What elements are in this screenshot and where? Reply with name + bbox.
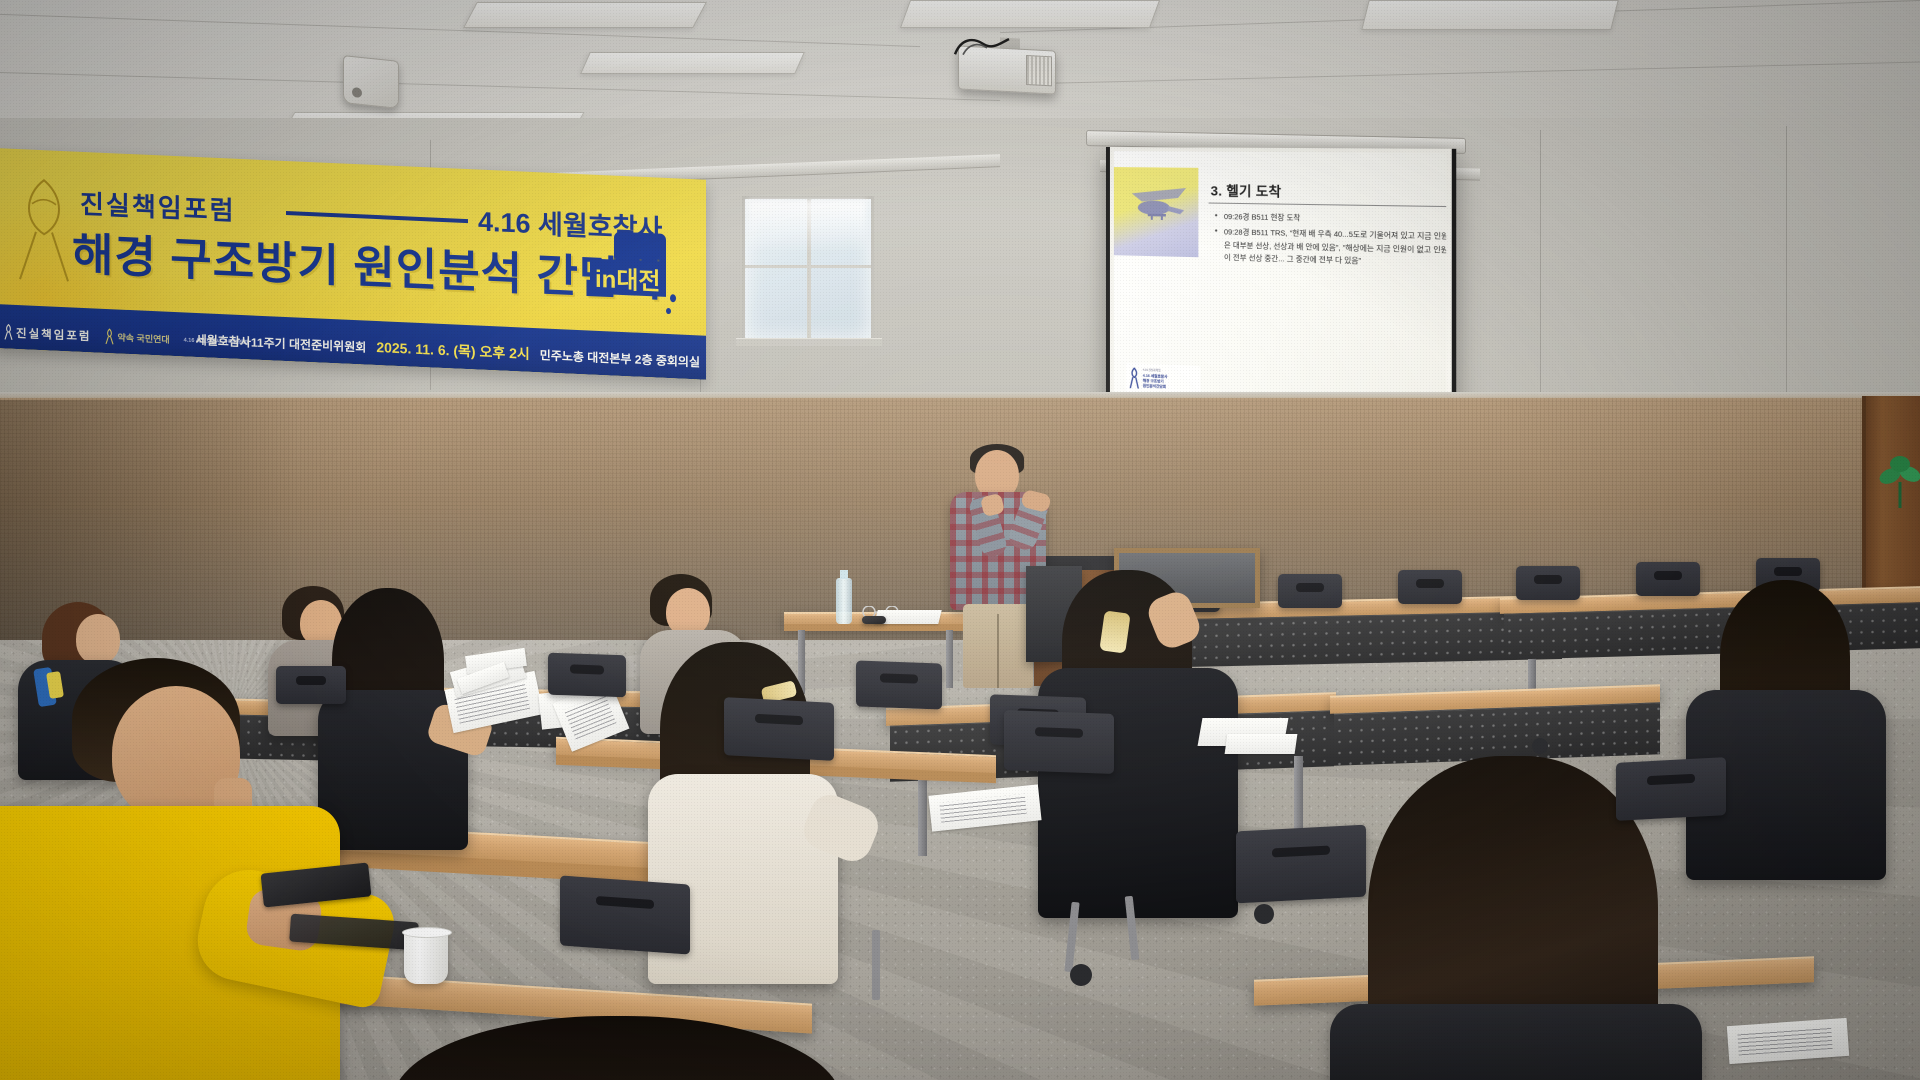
chair[interactable] <box>1398 570 1462 604</box>
water-bottle <box>836 578 852 624</box>
handout-paper <box>1225 734 1298 754</box>
chair[interactable] <box>724 697 834 761</box>
caster-wheel <box>1532 738 1548 754</box>
chair[interactable] <box>1004 710 1114 774</box>
banner-dot <box>666 308 671 314</box>
presenter-table-edge <box>784 624 964 631</box>
banner-date: 2025. 11. 6. (목) 오후 2시 <box>376 337 529 364</box>
chair[interactable] <box>1636 562 1700 596</box>
chair[interactable] <box>856 660 942 709</box>
ribbon-icon <box>1129 367 1140 390</box>
watermark-line3: 원인분석간담회 <box>1143 384 1168 391</box>
ribbon-icon <box>105 328 114 345</box>
slide-title: 3. 헬기 도착 <box>1211 180 1282 200</box>
banner-committee: 세월호참사11주기 대전준비위원회 <box>196 331 367 356</box>
ribbon-icon <box>4 323 13 340</box>
chair[interactable] <box>548 653 626 698</box>
window-glare <box>748 200 866 252</box>
projection-screen: 3. 헬기 도착 09:26경 B511 현장 도착 09:28경 B511 T… <box>1106 147 1456 427</box>
person-head <box>666 588 710 636</box>
paper-lines <box>564 693 617 739</box>
wall-shadow <box>0 400 300 650</box>
chair[interactable] <box>560 875 690 954</box>
table-leg <box>1294 756 1303 836</box>
window-mullion <box>745 265 871 268</box>
table-leg <box>918 770 927 856</box>
event-banner: 진실책임포럼 4.16 세월호참사 해경 구조방기 원인분석 간담회 in대전 … <box>0 148 706 380</box>
photo-scene: 3. 헬기 도착 09:26경 B511 현장 도착 09:28경 B511 T… <box>0 0 1920 1080</box>
chair[interactable] <box>1616 757 1726 821</box>
plant-icon <box>1878 452 1920 508</box>
caster-wheel <box>1254 904 1274 924</box>
helicopter-icon <box>1128 183 1190 224</box>
slide-watermark-text: 4.16 진실과책임 4.16 세월호참사 해경 구조방기 원인분석간담회 <box>1143 368 1168 391</box>
slide-divider <box>1209 203 1447 208</box>
paper-cup <box>404 930 448 984</box>
org-logo-label: 진실책임포럼 <box>16 324 91 343</box>
chair[interactable] <box>1236 825 1366 904</box>
slide-bullet-list: 09:26경 B511 현장 도착 09:28경 B511 TRS, "현재 배… <box>1215 211 1447 274</box>
projector-vent <box>1026 55 1052 86</box>
banner-dot <box>670 294 676 302</box>
banner-location-tag: in대전 <box>590 259 666 297</box>
projector-icon <box>958 45 1056 94</box>
wall-seam <box>1786 126 1787 396</box>
slide-bullet: 09:26경 B511 현장 도착 <box>1215 211 1447 228</box>
ceiling-light <box>580 52 805 74</box>
ceiling-light <box>463 2 707 28</box>
paper-lines <box>1737 1027 1832 1056</box>
hair-clip <box>1099 610 1130 653</box>
org-logo: 진실책임포럼 <box>4 323 91 344</box>
yellow-ribbon-icon <box>10 173 78 288</box>
person-head <box>76 614 120 664</box>
banner-venue: 민주노총 대전본부 2층 중회의실 <box>540 346 700 370</box>
speaker-legs <box>963 604 1033 688</box>
org-logo: 약속 국민연대 <box>105 328 169 348</box>
caster-wheel <box>1070 964 1092 986</box>
chair[interactable] <box>1516 566 1580 600</box>
chair-leg <box>872 930 880 1000</box>
table-leg <box>946 630 953 688</box>
chair[interactable] <box>1278 574 1342 608</box>
smartphone <box>862 616 886 624</box>
chair[interactable] <box>276 666 346 704</box>
slide-bullet: 09:28경 B511 TRS, "현재 배 우측 40...5도로 기울어져 … <box>1215 226 1447 270</box>
slide: 3. 헬기 도착 09:26경 B511 현장 도착 09:28경 B511 T… <box>1114 151 1446 421</box>
ceiling-light <box>1361 0 1618 30</box>
window-sill <box>736 338 882 346</box>
paper-lines <box>939 794 1027 823</box>
ceiling-speaker-icon <box>343 55 399 109</box>
projector-cable-icon <box>953 34 1013 59</box>
wall-seam <box>1540 130 1541 392</box>
person-body <box>1330 1004 1702 1080</box>
ceiling-light <box>900 0 1160 28</box>
banner-rule <box>286 211 468 223</box>
org-logo-label: 약속 국민연대 <box>117 330 169 345</box>
